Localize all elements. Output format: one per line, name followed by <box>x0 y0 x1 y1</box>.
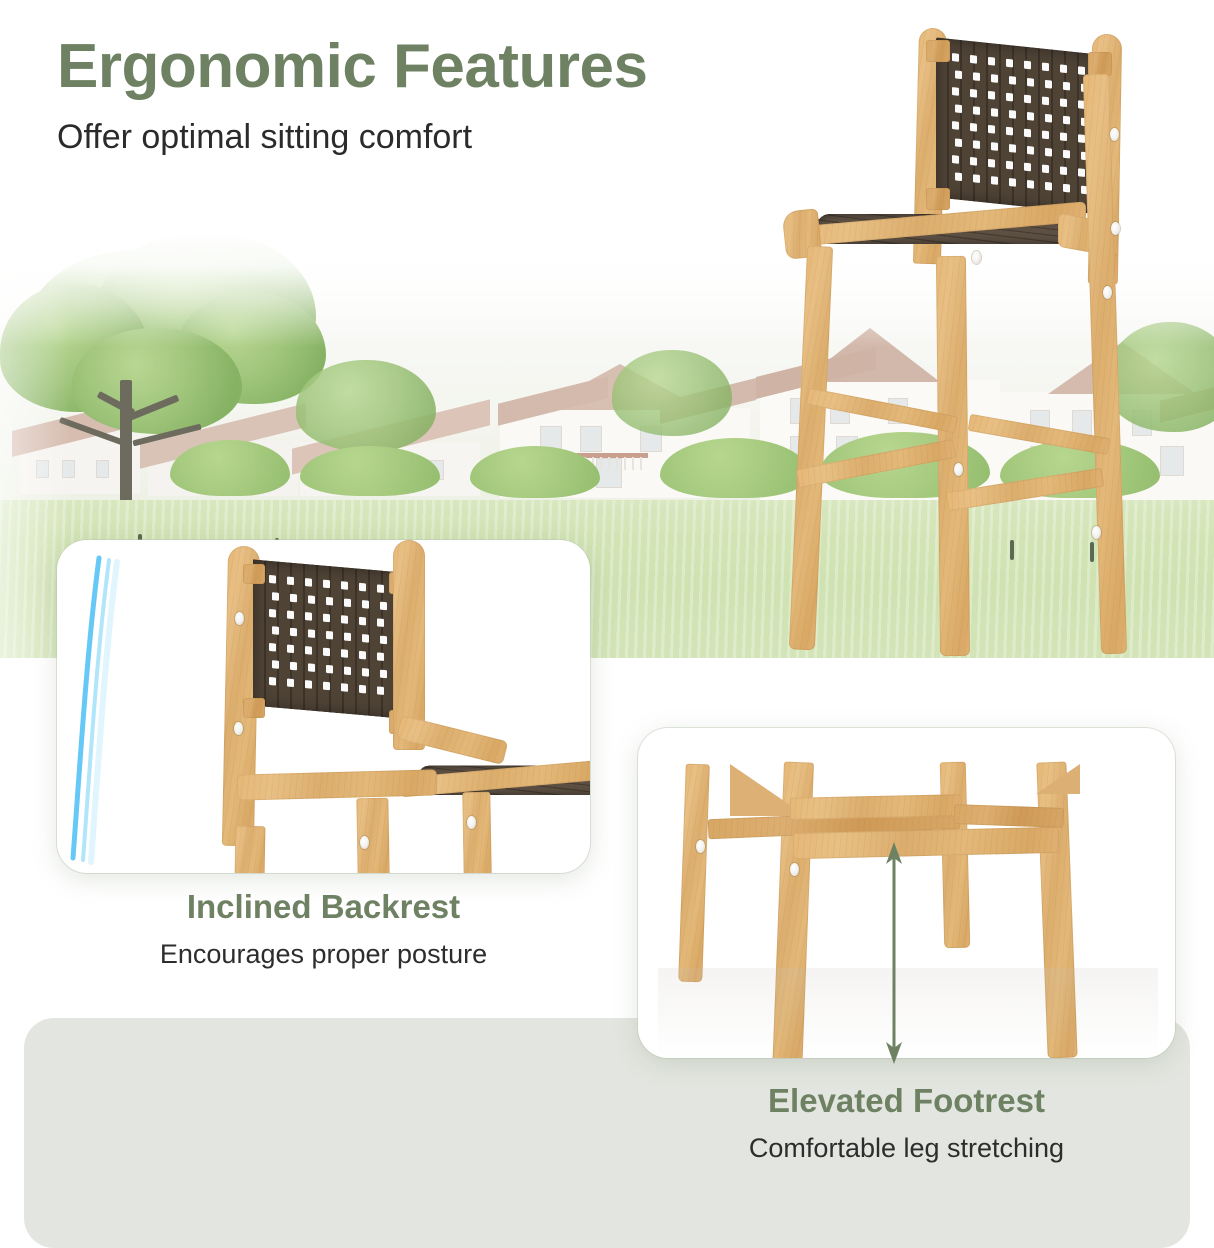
screw-icon <box>1103 286 1112 299</box>
footrest-rail-upper <box>790 794 962 820</box>
weave-hole <box>272 660 279 669</box>
weave-hole <box>380 670 387 679</box>
screw-icon <box>696 840 705 853</box>
weave-hole <box>341 615 348 624</box>
weave-hole <box>955 138 962 147</box>
woven-backrest-panel <box>936 37 1100 214</box>
tree <box>296 360 436 452</box>
weave-hole <box>308 629 315 638</box>
weave-hole <box>323 682 330 691</box>
caption-footrest: Elevated Footrest Comfortable leg stretc… <box>638 1082 1175 1164</box>
weave-hole <box>269 677 276 686</box>
screw-icon <box>360 836 369 849</box>
weave-hole <box>991 74 998 83</box>
backrest-joint-bottom-left <box>926 188 950 210</box>
woven-backrest-panel <box>253 560 401 719</box>
promo-banner: Ergonomic Features Offer optimal sitting… <box>0 0 1214 1214</box>
weave-hole <box>970 89 977 98</box>
weave-hole <box>344 666 351 675</box>
screw-icon <box>467 816 476 829</box>
weave-hole <box>1024 163 1031 172</box>
weave-hole <box>341 649 348 658</box>
weave-hole <box>952 87 959 96</box>
weave-hole <box>970 157 977 166</box>
header: Ergonomic Features Offer optimal sitting… <box>57 34 647 156</box>
footrest-rail-right <box>954 804 1065 828</box>
caption-footrest-subtitle: Comfortable leg stretching <box>638 1132 1175 1164</box>
weave-hole <box>970 123 977 132</box>
weave-hole <box>377 686 384 695</box>
weave-hole <box>1060 98 1067 107</box>
weave-hole <box>323 648 330 657</box>
weave-hole <box>272 626 279 635</box>
weave-hole <box>1042 165 1049 174</box>
leg-far-right <box>462 792 491 873</box>
weave-hole <box>988 57 995 66</box>
weave-hole <box>359 685 366 694</box>
weave-hole <box>955 104 962 113</box>
weave-hole <box>1027 78 1034 87</box>
dimension-annotation <box>874 842 914 1064</box>
weave-hole <box>287 577 294 586</box>
weave-hole <box>326 597 333 606</box>
weave-hole <box>326 665 333 674</box>
weave-hole <box>362 634 369 643</box>
weave-hole <box>973 72 980 81</box>
weave-hole <box>955 70 962 79</box>
weave-hole <box>1006 59 1013 68</box>
caption-backrest: Inclined Backrest Encourages proper post… <box>57 888 590 970</box>
weave-hole <box>973 174 980 183</box>
weave-hole <box>1009 110 1016 119</box>
weave-hole <box>380 636 387 645</box>
weave-hole <box>1006 161 1013 170</box>
weave-hole <box>988 159 995 168</box>
double-arrow-icon <box>874 842 914 1064</box>
weave-hole <box>287 679 294 688</box>
screw-icon <box>1111 222 1120 235</box>
page-subtitle: Offer optimal sitting comfort <box>57 119 647 156</box>
leg-left <box>235 826 266 873</box>
screw-icon <box>1110 128 1119 141</box>
weave-hole <box>973 106 980 115</box>
weave-hole <box>308 595 315 604</box>
weave-hole <box>1042 131 1049 140</box>
weave-hole <box>287 645 294 654</box>
weave-hole <box>323 580 330 589</box>
weave-hole <box>1009 178 1016 187</box>
screw-icon <box>234 722 243 735</box>
weave-hole <box>1060 166 1067 175</box>
feature-card-backrest <box>57 540 590 873</box>
weave-hole <box>1024 61 1031 70</box>
seat-apron <box>237 769 438 800</box>
weave-hole <box>952 53 959 62</box>
weave-hole <box>1045 148 1052 157</box>
weave-hole <box>1060 132 1067 141</box>
weave-hole <box>323 614 330 623</box>
weave-hole <box>1027 112 1034 121</box>
backrest-joint-top-left <box>926 40 950 62</box>
weave-hole <box>344 632 351 641</box>
weave-hole <box>326 631 333 640</box>
corner-gusset-right <box>1036 764 1080 794</box>
weave-hole <box>973 140 980 149</box>
leg-right <box>356 798 389 873</box>
weave-hole <box>272 592 279 601</box>
seat-side-rail <box>396 715 509 765</box>
weave-hole <box>955 172 962 181</box>
weave-hole <box>359 583 366 592</box>
weave-hole <box>290 662 297 671</box>
weave-hole <box>1027 146 1034 155</box>
weave-hole <box>308 663 315 672</box>
caption-footrest-title: Elevated Footrest <box>638 1082 1175 1120</box>
weave-hole <box>305 578 312 587</box>
weave-hole <box>341 683 348 692</box>
weave-hole <box>377 652 384 661</box>
leg-back-left <box>678 764 710 983</box>
weave-hole <box>1042 97 1049 106</box>
weave-hole <box>362 600 369 609</box>
weave-hole <box>305 612 312 621</box>
tree <box>612 350 732 436</box>
weave-hole <box>305 680 312 689</box>
backrest-joint-top-right <box>1088 52 1112 76</box>
footrest-rail-right <box>968 414 1111 455</box>
weave-hole <box>952 121 959 130</box>
leg-front-left <box>789 246 833 651</box>
panel-joint <box>243 564 265 584</box>
weave-hole <box>988 125 995 134</box>
weave-hole <box>1078 66 1085 75</box>
weave-hole <box>287 611 294 620</box>
panel-joint <box>243 698 265 718</box>
weave-hole <box>1006 127 1013 136</box>
screw-icon <box>790 863 799 876</box>
weave-hole <box>377 618 384 627</box>
weave-hole <box>359 617 366 626</box>
weave-hole <box>341 581 348 590</box>
weave-hole <box>1009 144 1016 153</box>
weave-hole <box>1063 184 1070 193</box>
weave-hole <box>1042 63 1049 72</box>
weave-hole <box>1045 114 1052 123</box>
weave-hole <box>1006 93 1013 102</box>
page-title: Ergonomic Features <box>57 34 647 99</box>
backrest-closeup <box>57 540 590 873</box>
weave-hole <box>269 609 276 618</box>
hero-barstool-image <box>740 18 1160 690</box>
weave-hole <box>1063 82 1070 91</box>
weave-hole <box>290 594 297 603</box>
weave-hole <box>1063 150 1070 159</box>
weave-hole <box>1045 80 1052 89</box>
weave-hole <box>1027 180 1034 189</box>
weave-hole <box>377 584 384 593</box>
weave-hole <box>305 646 312 655</box>
weave-hole <box>269 575 276 584</box>
weave-hole <box>988 91 995 100</box>
screw-icon <box>954 463 963 476</box>
weave-hole <box>359 651 366 660</box>
footrest-rail-center <box>945 468 1104 511</box>
weave-hole <box>991 142 998 151</box>
weave-hole <box>991 108 998 117</box>
weave-hole <box>991 176 998 185</box>
weave-hole <box>290 628 297 637</box>
footrest-rail-front <box>793 827 1060 859</box>
weave-hole <box>1078 168 1085 177</box>
leg-back-right <box>1083 74 1127 655</box>
weave-hole <box>1060 64 1067 73</box>
weave-hole <box>1024 129 1031 138</box>
weave-hole <box>362 668 369 677</box>
weave-hole <box>1024 95 1031 104</box>
screw-icon <box>972 251 981 264</box>
weave-hole <box>1009 76 1016 85</box>
footrest-rail-upper-left <box>806 388 958 434</box>
weave-hole <box>970 55 977 64</box>
weave-hole <box>269 643 276 652</box>
weave-hole <box>344 598 351 607</box>
weave-hole <box>1063 116 1070 125</box>
screw-icon <box>235 612 244 625</box>
weave-hole <box>380 602 387 611</box>
caption-backrest-title: Inclined Backrest <box>57 888 590 926</box>
screw-icon <box>1092 526 1101 539</box>
weave-hole <box>1045 182 1052 191</box>
caption-backrest-subtitle: Encourages proper posture <box>57 938 590 970</box>
weave-hole <box>952 155 959 164</box>
